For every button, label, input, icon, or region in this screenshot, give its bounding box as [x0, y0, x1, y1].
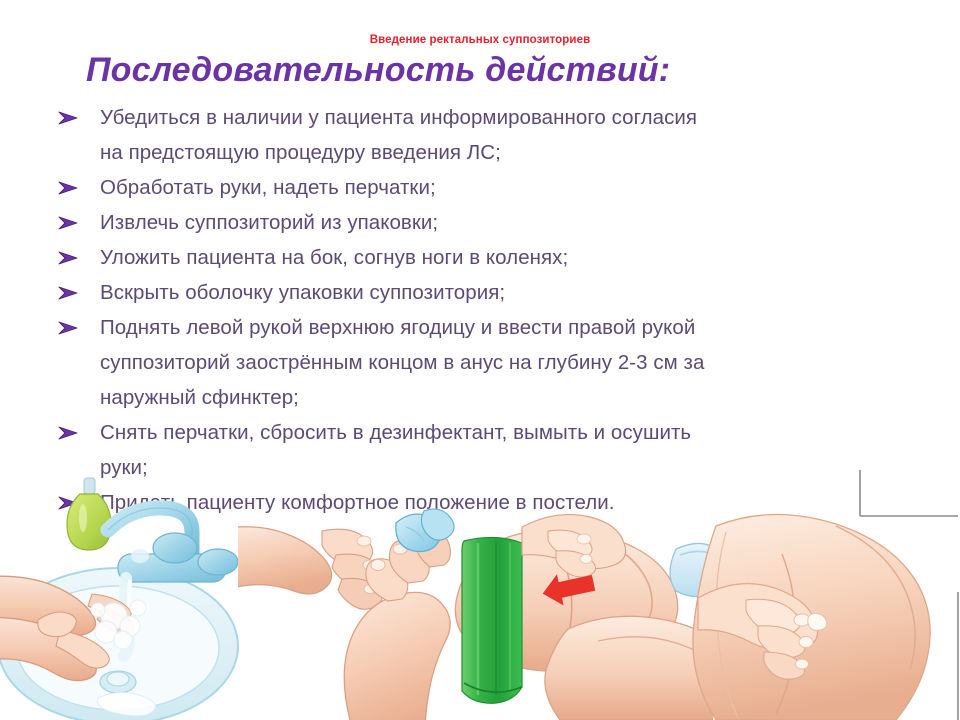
list-item-text: Обработать руки, надеть перчатки;	[100, 170, 886, 205]
list-item-text: наружный сфинктер;	[100, 380, 886, 415]
suppository-insertion-illustration	[690, 470, 960, 720]
arrowhead-bullet-icon	[58, 170, 82, 205]
arrowhead-bullet-icon	[58, 275, 82, 310]
list-item-text: Поднять левой рукой верхнюю ягодицу и вв…	[100, 310, 886, 345]
patient-side-position-illustration	[448, 505, 713, 720]
list-item: Убедиться в наличии у пациента информиро…	[56, 100, 886, 170]
unwrapping-suppository-illustration	[238, 505, 468, 720]
list-item-text: на предстоящую процедуру введения ЛС;	[100, 135, 886, 170]
arrowhead-bullet-icon	[58, 415, 82, 450]
steps-list: Убедиться в наличии у пациента информиро…	[56, 100, 886, 520]
arrowhead-bullet-icon	[58, 205, 82, 240]
list-item: Обработать руки, надеть перчатки;	[56, 170, 886, 205]
slide-header-title: Введение ректальных суппозиториев	[0, 34, 960, 46]
list-item-text: Вскрыть оболочку упаковки суппозитория;	[100, 275, 886, 310]
list-item-text: Извлечь суппозиторий из упаковки;	[100, 205, 886, 240]
list-item: Уложить пациента на бок, согнув ноги в к…	[56, 240, 886, 275]
list-item: Вскрыть оболочку упаковки суппозитория;	[56, 275, 886, 310]
list-item-text: Уложить пациента на бок, согнув ноги в к…	[100, 240, 886, 275]
list-item: Поднять левой рукой верхнюю ягодицу и вв…	[56, 310, 886, 415]
arrowhead-bullet-icon	[58, 310, 82, 345]
arrowhead-bullet-icon	[58, 240, 82, 275]
list-item-text: суппозиторий заострённым концом в анус н…	[100, 345, 886, 380]
page-title: Последовательность действий:	[86, 51, 670, 90]
list-item-text: Снять перчатки, сбросить в дезинфектант,…	[100, 415, 886, 450]
list-item: Извлечь суппозиторий из упаковки;	[56, 205, 886, 240]
illustration-strip	[0, 470, 960, 720]
list-item-text: Убедиться в наличии у пациента информиро…	[100, 100, 886, 135]
arrowhead-bullet-icon	[58, 100, 82, 135]
handwashing-illustration	[0, 470, 240, 720]
